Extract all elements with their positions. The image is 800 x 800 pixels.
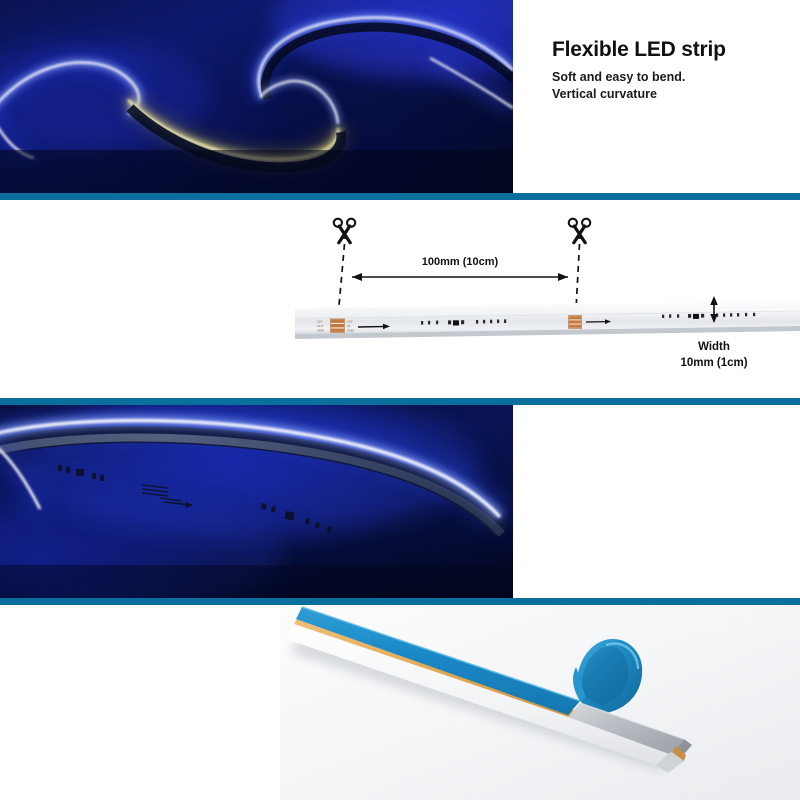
pad-label: 12V: [347, 319, 353, 323]
panel-cuttable-length: Cuttable lenght 100mm (10cm) Width 10mm …: [0, 200, 800, 398]
uniform-side-photo: [0, 405, 513, 598]
section-divider: [0, 193, 800, 200]
cut-length-diagram: 100mm (10cm): [290, 200, 800, 398]
section-divider: [0, 398, 800, 405]
panel-adhesive-tape: Adhesive Tape: [0, 605, 800, 800]
body-line: Vertical curvature: [552, 86, 726, 103]
panel-body: Soft and easy to bend. Vertical curvatur…: [552, 69, 726, 102]
scissors-icon-left: [334, 219, 355, 243]
length-dimension-arrow: [352, 273, 568, 281]
scissors-icon-right: [569, 219, 590, 243]
pad-label: OUT: [317, 324, 324, 328]
width-label-line1: Width: [698, 341, 730, 353]
cut-length-label: 100mm (10cm): [422, 256, 499, 268]
pad-label: IN: [347, 324, 350, 328]
led-strip-graphic: [295, 300, 800, 339]
width-label-line2: 10mm (1cm): [680, 357, 747, 369]
body-line: Soft and easy to bend.: [552, 69, 726, 86]
panel-title: Flexible LED strip: [552, 38, 726, 62]
infographic-page: Flexible LED strip Soft and easy to bend…: [0, 0, 800, 800]
pad-label: GND: [347, 328, 355, 332]
pad-label: 12V: [317, 319, 323, 323]
adhesive-tape-photo: [280, 605, 800, 800]
flexible-strip-text-block: Flexible LED strip Soft and easy to bend…: [552, 38, 726, 102]
panel-flexible-led-strip: Flexible LED strip Soft and easy to bend…: [0, 0, 800, 193]
flexible-strip-photo: [0, 0, 513, 193]
section-divider: [0, 598, 800, 605]
panel-uniform-side: Uniform side Side emitting COB design, i…: [0, 405, 800, 598]
pad-label: GND: [317, 328, 325, 332]
